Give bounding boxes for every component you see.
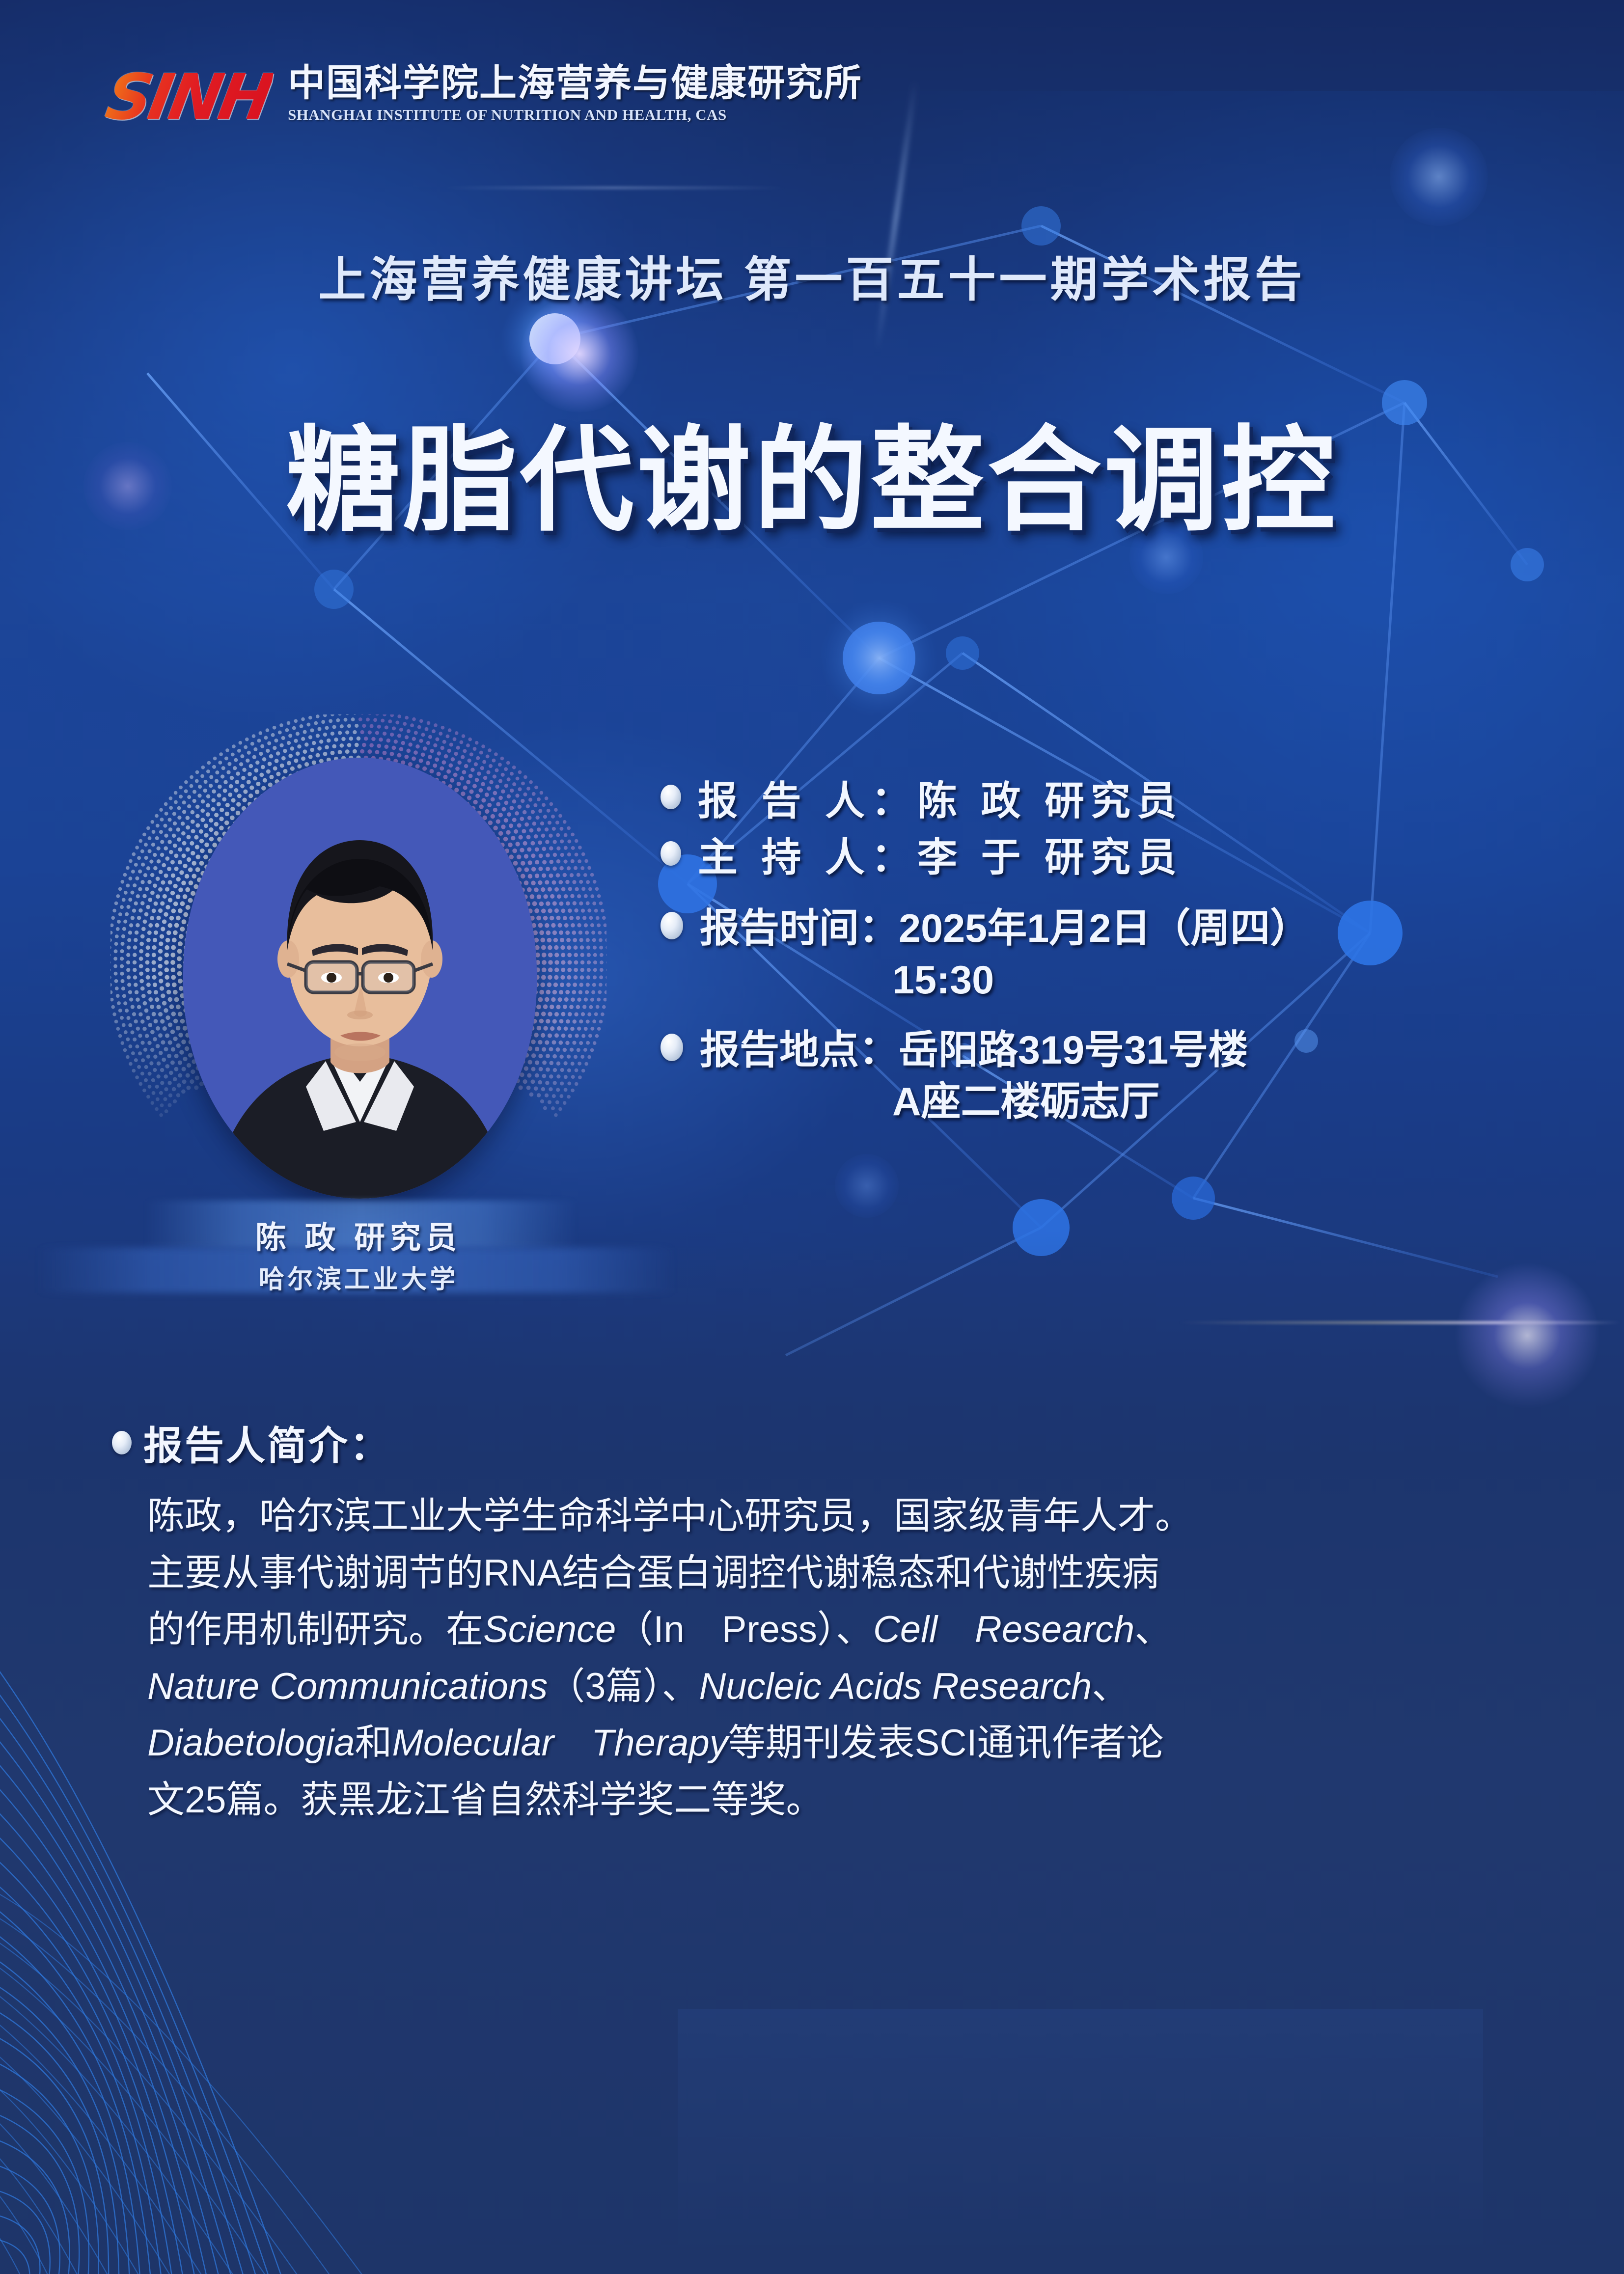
info-row-host: 主 持 人：李 于 研究员	[661, 832, 1594, 884]
speaker-card: 陈 政 研究员 哈尔滨工业大学	[110, 714, 606, 1269]
bullet-icon	[661, 841, 681, 866]
speaker-portrait	[183, 758, 537, 1199]
speaker-photo-frame	[183, 758, 537, 1199]
info-row-speaker: 报 告 人：陈 政 研究员	[661, 776, 1594, 827]
bio-line: 主要从事代谢调节的RNA结合蛋白调控代谢稳态和代谢性疾病	[147, 1545, 1575, 1602]
info-host-text: 主 持 人：李 于 研究员	[698, 832, 1183, 884]
bio-line: 文25篇。获黑龙江省自然科学奖二等奖。	[147, 1772, 1575, 1829]
page-title: 糖脂代谢的整合调控	[0, 388, 1624, 553]
speaker-bio-section: 报告人简介： 陈政，哈尔滨工业大学生命科学中心研究员，国家级青年人才。 主要从事…	[112, 1414, 1575, 1828]
info-speaker-text: 报 告 人：陈 政 研究员	[698, 776, 1183, 827]
info-place-text-2: A座二楼砺志厅	[892, 1076, 1248, 1128]
seminar-poster: SINH 中国科学院上海营养与健康研究所 SHANGHAI INSTITUTE …	[0, 0, 1624, 2274]
bio-heading: 报告人简介：	[112, 1414, 1575, 1471]
institute-logo: SINH 中国科学院上海营养与健康研究所 SHANGHAI INSTITUTE …	[107, 64, 862, 127]
event-info-list: 报 告 人：陈 政 研究员 主 持 人：李 于 研究员 报告时间：2025年1月…	[661, 776, 1594, 1133]
bullet-icon	[661, 912, 683, 939]
sinh-logo-mark: SINH	[102, 69, 275, 127]
institute-name-cn: 中国科学院上海营养与健康研究所	[288, 64, 862, 103]
info-row-place: 报告地点：岳阳路319号31号楼 A座二楼砺志厅	[661, 1025, 1594, 1128]
series-title: 上海营养健康讲坛 第一百五十一期学术报告	[0, 241, 1624, 310]
bio-title-text: 报告人简介：	[143, 1414, 391, 1471]
info-row-time: 报告时间：2025年1月2日（周四） 15:30	[661, 903, 1594, 1007]
info-time-text: 报告时间：2025年1月2日（周四）	[700, 903, 1310, 955]
bio-line: 的作用机制研究。在Science（In Press）、Cell Research…	[147, 1601, 1575, 1658]
bullet-icon	[661, 1034, 683, 1061]
bio-line: Nature Communications（3篇）、Nucleic Acids …	[147, 1658, 1575, 1715]
institute-name-en: SHANGHAI INSTITUTE OF NUTRITION AND HEAL…	[288, 106, 862, 124]
bio-line: Diabetologia和Molecular Therapy等期刊发表SCI通讯…	[147, 1715, 1575, 1772]
speaker-affiliation-label: 哈尔滨工业大学	[130, 1259, 587, 1295]
bullet-icon	[112, 1431, 132, 1454]
speaker-name-label: 陈 政 研究员	[130, 1213, 587, 1258]
info-time-text-2: 15:30	[892, 955, 1310, 1006]
info-place-text: 报告地点：岳阳路319号31号楼	[700, 1025, 1248, 1076]
bullet-icon	[661, 785, 681, 809]
footer-lab-name: 中国科学院营养代谢与食品安全重点实验室	[678, 2120, 1483, 2178]
bio-line: 陈政，哈尔滨工业大学生命科学中心研究员，国家级青年人才。	[147, 1488, 1575, 1545]
